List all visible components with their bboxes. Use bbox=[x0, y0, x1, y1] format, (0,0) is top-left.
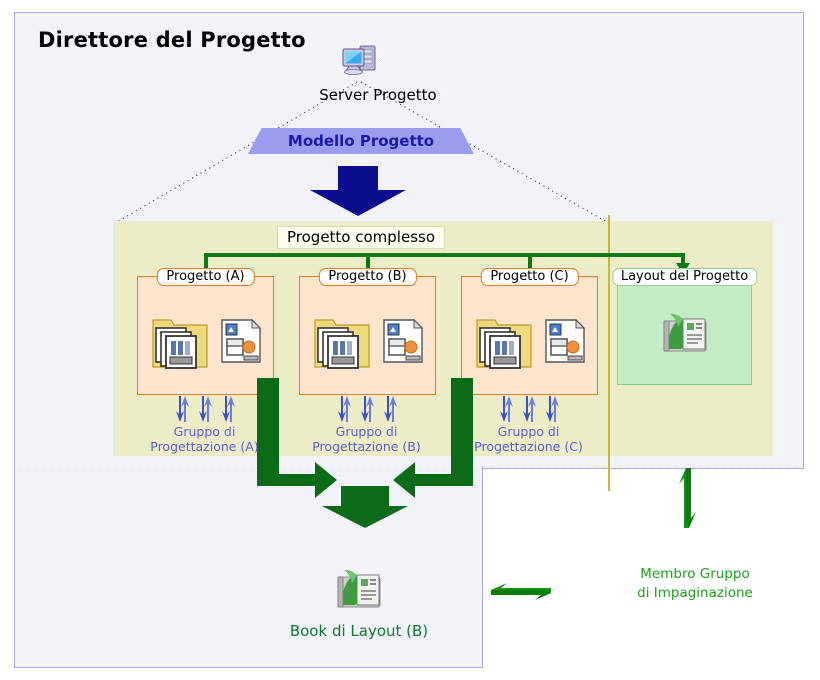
project-tab-label: Progetto (C) bbox=[480, 268, 578, 286]
drawing-sheet-icon bbox=[219, 318, 263, 364]
project-template-label: Modello Progetto bbox=[248, 128, 474, 154]
project-layout-box[interactable]: Layout del Progetto bbox=[617, 276, 752, 385]
project-template-band: Modello Progetto bbox=[248, 128, 474, 154]
legend-label: Membro Gruppo di Impaginazione bbox=[600, 565, 790, 603]
project-layout-tab-label: Layout del Progetto bbox=[612, 268, 757, 286]
output-label: Book di Layout (B) bbox=[238, 622, 480, 640]
diagram-canvas: Direttore del Progetto Server Progetto M… bbox=[0, 0, 820, 680]
drawing-sheet-icon bbox=[543, 318, 587, 364]
layout-book-icon bbox=[333, 563, 385, 611]
project-folder-icon bbox=[473, 310, 535, 372]
project-tab-label: Progetto (A) bbox=[156, 268, 254, 286]
layout-book-icon bbox=[659, 307, 711, 355]
project-folder-icon bbox=[149, 310, 211, 372]
aggregation-arrows bbox=[240, 378, 490, 528]
server-label: Server Progetto bbox=[258, 86, 498, 104]
project-folder-icon bbox=[311, 310, 373, 372]
down-arrow-icon bbox=[302, 166, 414, 216]
page-title: Direttore del Progetto bbox=[38, 28, 306, 52]
project-icons bbox=[300, 295, 435, 387]
green-bidirectional-horizontal-arrow-icon bbox=[491, 580, 551, 604]
complex-project-label: Progetto complesso bbox=[277, 226, 445, 249]
green-bidirectional-vertical-arrow-icon bbox=[676, 468, 700, 528]
project-tab-label: Progetto (B) bbox=[318, 268, 416, 286]
project-icons bbox=[462, 295, 597, 387]
drawing-sheet-icon bbox=[381, 318, 425, 364]
project-icons bbox=[138, 295, 273, 387]
server-computer-icon bbox=[338, 40, 380, 82]
section-divider bbox=[608, 215, 610, 491]
